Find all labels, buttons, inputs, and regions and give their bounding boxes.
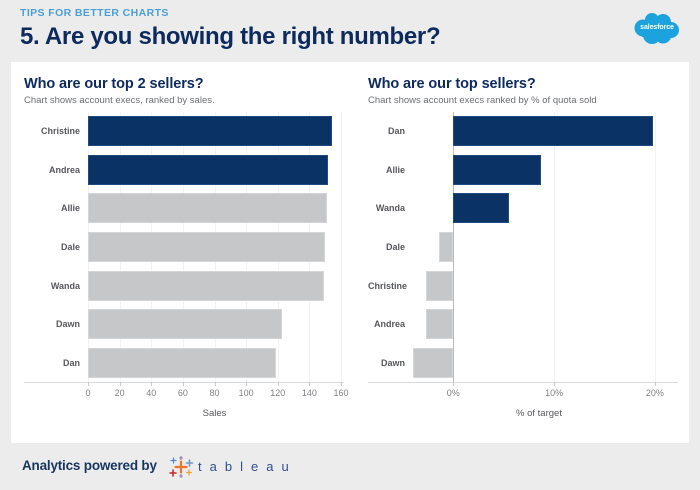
category-label-dawn: Dawn: [368, 358, 405, 368]
x-axis-tick: [554, 382, 555, 386]
x-axis-line: [24, 382, 344, 383]
x-axis-tick: [120, 382, 121, 386]
bar-christine[interactable]: [426, 271, 453, 301]
x-axis-tick: [453, 382, 454, 386]
category-label-dan: Dan: [24, 358, 80, 368]
category-label-allie: Allie: [24, 203, 80, 213]
x-axis-tick: [278, 382, 279, 386]
x-axis-tick: [215, 382, 216, 386]
eyebrow-label: TIPS FOR BETTER CHARTS: [20, 7, 169, 19]
category-label-andrea: Andrea: [368, 319, 405, 329]
bar-dawn[interactable]: [88, 309, 282, 339]
category-label-christine: Christine: [24, 126, 80, 136]
category-label-wanda: Wanda: [24, 281, 80, 291]
category-label-andrea: Andrea: [24, 165, 80, 175]
bar-andrea[interactable]: [426, 309, 453, 339]
chart-panel-left: Who are our top 2 sellers? Chart shows a…: [11, 62, 355, 443]
gridline: [341, 112, 342, 382]
bar-christine[interactable]: [88, 116, 332, 146]
gridline: [554, 112, 555, 382]
chart-title-right: Who are our top sellers?: [368, 76, 536, 92]
x-axis-tick-label: 10%: [529, 388, 579, 398]
header: TIPS FOR BETTER CHARTS 5. Are you showin…: [0, 0, 700, 62]
category-label-wanda: Wanda: [368, 203, 405, 213]
salesforce-logo-label: salesforce: [632, 24, 682, 31]
slide-root: TIPS FOR BETTER CHARTS 5. Are you showin…: [0, 0, 700, 490]
chart-title-left: Who are our top 2 sellers?: [24, 76, 204, 92]
chart-subtitle-right: Chart shows account execs ranked by % of…: [368, 95, 597, 106]
x-axis-tick-label: 20%: [630, 388, 680, 398]
category-label-dawn: Dawn: [24, 319, 80, 329]
bar-dale[interactable]: [88, 232, 325, 262]
bar-allie[interactable]: [453, 155, 541, 185]
bar-dan[interactable]: [88, 348, 276, 378]
x-axis-tick: [655, 382, 656, 386]
x-axis-title: % of target: [413, 408, 665, 419]
x-axis-tick: [309, 382, 310, 386]
category-label-dale: Dale: [24, 242, 80, 252]
x-axis-tick: [341, 382, 342, 386]
footer-label: Analytics powered by: [22, 458, 157, 473]
x-axis-tick: [88, 382, 89, 386]
tableau-logo-icon: [168, 456, 196, 478]
chart-panel-right: Who are our top sellers? Chart shows acc…: [355, 62, 689, 443]
bar-wanda[interactable]: [88, 271, 324, 301]
gridline: [655, 112, 656, 382]
x-axis-tick: [183, 382, 184, 386]
chart-subtitle-left: Chart shows account execs, ranked by sal…: [24, 95, 215, 106]
x-axis-tick-label: 0%: [428, 388, 478, 398]
x-axis-title: Sales: [88, 408, 341, 419]
bar-dan[interactable]: [453, 116, 653, 146]
category-label-christine: Christine: [368, 281, 405, 291]
category-label-dale: Dale: [368, 242, 405, 252]
bar-andrea[interactable]: [88, 155, 328, 185]
salesforce-logo-icon: salesforce: [632, 11, 682, 47]
bar-allie[interactable]: [88, 193, 327, 223]
x-axis-tick: [246, 382, 247, 386]
page-title: 5. Are you showing the right number?: [20, 23, 440, 51]
zero-line: [453, 112, 454, 382]
bar-wanda[interactable]: [453, 193, 508, 223]
bar-dale[interactable]: [439, 232, 453, 262]
x-axis-line: [368, 382, 678, 383]
footer: Analytics powered by: [0, 443, 700, 490]
category-label-allie: Allie: [368, 165, 405, 175]
category-label-dan: Dan: [368, 126, 405, 136]
plot-area-right: 0%10%20%% of targetDanAllieWandaDaleChri…: [368, 112, 678, 404]
x-axis-tick: [151, 382, 152, 386]
bar-dawn[interactable]: [413, 348, 453, 378]
plot-area-left: 020406080100120140160SalesChristineAndre…: [24, 112, 344, 404]
tableau-wordmark: t a b l e a u: [198, 459, 291, 474]
charts-card: Who are our top 2 sellers? Chart shows a…: [11, 62, 689, 443]
